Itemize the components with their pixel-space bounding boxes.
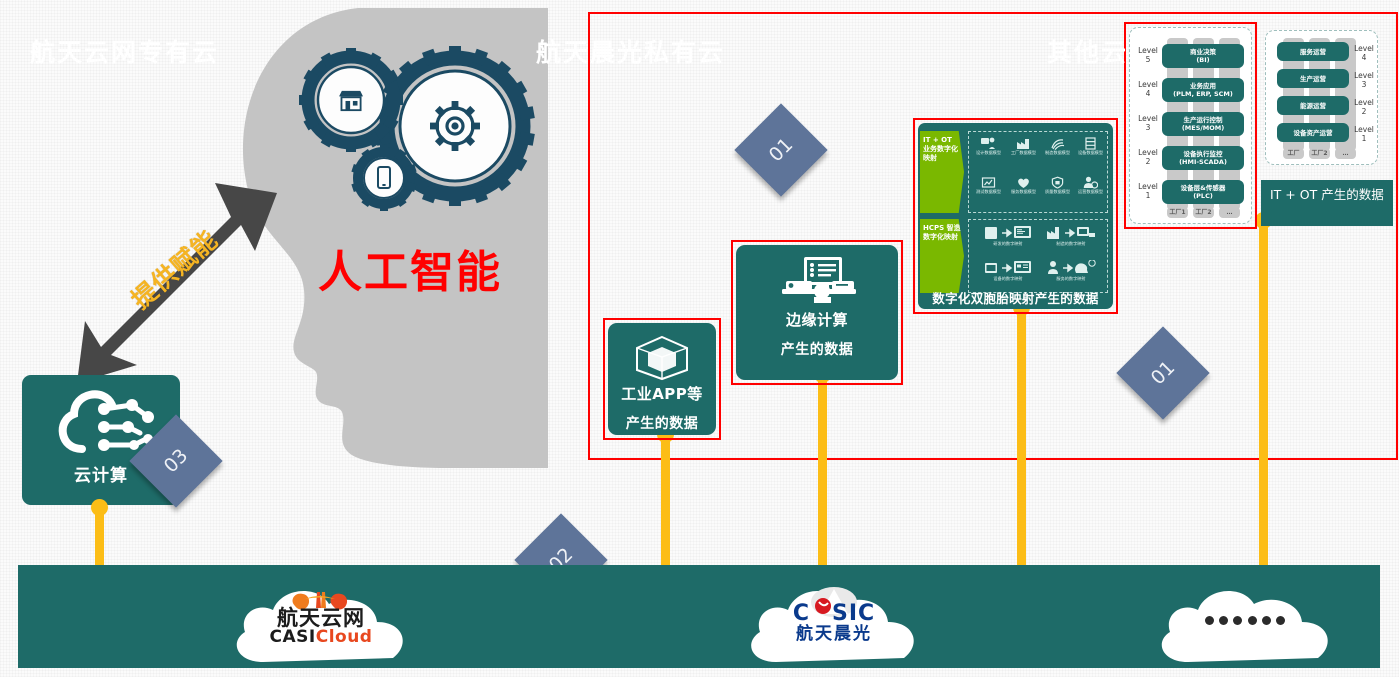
casicloud-logo-en2: Cloud xyxy=(316,627,373,647)
twin-model-1-label: 工厂数据模型 xyxy=(1007,151,1040,156)
casicloud-logo-cn: 航天云网 xyxy=(255,607,387,629)
twin-model-0: 设计数据模型 xyxy=(971,137,1006,156)
factory-icon xyxy=(1016,137,1031,150)
cloud-label-casicloud: 航天云网专有云 xyxy=(30,33,219,69)
twin-model-3-label: 设备数据模型 xyxy=(1074,151,1107,156)
twin-model-1: 工厂数据模型 xyxy=(1006,137,1041,156)
twin-model-4: 测试数据模型 xyxy=(971,176,1006,195)
casic-logo-en1: C xyxy=(793,601,810,626)
it-ot-caption: IT + OT 产生的数据 xyxy=(1261,180,1393,226)
ot-plant-2: … xyxy=(1335,148,1356,159)
twin-model-2-label: 制造数据模型 xyxy=(1041,151,1074,156)
ot-level-3-bar: 生产运营 xyxy=(1277,69,1349,88)
industrial-app-line1: 工业APP等 xyxy=(608,383,716,404)
ot-level-4-bar: 服务运营 xyxy=(1277,42,1349,61)
badge-03[interactable]: 03 xyxy=(143,428,209,494)
twin-mapping-0-label: 研发的数字映射 xyxy=(980,242,1035,247)
twin-models-grid: 设计数据模型 工厂数据模型 制造数据模型 设备数据模型 测试数据模型 服务数据模… xyxy=(968,131,1108,213)
ellipsis-dots-icon xyxy=(1205,613,1285,627)
twin-model-6: 质量数据模型 xyxy=(1040,176,1075,195)
ot-level-4-title: 服务运营 xyxy=(1300,48,1326,56)
badge-01-right[interactable]: 01 xyxy=(1130,340,1196,406)
twin-mapping-1: 制造的数字映射 xyxy=(1041,225,1101,247)
ot-plant-0: 工厂 xyxy=(1283,148,1304,159)
ot-level-4-tag: Level 4 xyxy=(1352,44,1376,62)
gears-graphic xyxy=(288,38,558,218)
twin-model-3: 设备数据模型 xyxy=(1073,137,1108,156)
casic-logo-en2: SIC xyxy=(832,601,875,626)
it-level-3-tag: Level 3 xyxy=(1136,114,1160,132)
casic-logo: CSIC 航天晨光 xyxy=(775,588,893,648)
casic-logo-en: CSIC xyxy=(775,602,893,626)
it-level-4-tag: Level 4 xyxy=(1136,80,1160,98)
edge-computing-text: 边缘计算 产生的数据 xyxy=(736,309,898,359)
it-plant-2: … xyxy=(1219,207,1240,218)
service-map-icon xyxy=(1046,260,1096,276)
ot-level-2-tag: Level 2 xyxy=(1352,98,1376,116)
ot-level-1-bar: 设备资产运营 xyxy=(1277,123,1349,142)
it-pyramid-panel[interactable]: Level 5 商业决策 (BI) Level 4 业务应用 (PLM, ERP… xyxy=(1129,27,1252,224)
ot-level-2-title: 能源运营 xyxy=(1300,102,1326,110)
manufacture-icon xyxy=(1050,137,1065,150)
it-level-5-bar: 商业决策 (BI) xyxy=(1162,44,1244,68)
it-level-2-tag: Level 2 xyxy=(1136,148,1160,166)
it-level-3-bar: 生产运行控制 (MES/MOM) xyxy=(1162,112,1244,136)
it-level-2-sub: (HMI-SCADA) xyxy=(1179,158,1227,166)
twin-tab-itot: IT + OT 业务数字化映射 xyxy=(920,131,964,213)
twin-mapping-2-label: 设备的数字映射 xyxy=(980,277,1035,282)
twin-model-6-label: 质量数据模型 xyxy=(1041,190,1074,195)
it-level-3-sub: (MES/MOM) xyxy=(1182,124,1224,132)
design-icon xyxy=(981,137,996,150)
edge-computing-line2: 产生的数据 xyxy=(736,339,898,359)
casicloud-logo-en1: CASI xyxy=(270,627,316,647)
page-title: 人工智能 xyxy=(270,236,550,300)
it-level-1-bar: 设备层&传感器 (PLC) xyxy=(1162,180,1244,204)
twin-model-5: 服务数据模型 xyxy=(1006,176,1041,195)
connector-edge-to-bar xyxy=(818,372,827,575)
digital-twin-panel[interactable]: IT + OT 业务数字化映射 HCPS 智造数字化映射 设计数据模型 工厂数据… xyxy=(918,123,1113,309)
casic-logo-cn: 航天晨光 xyxy=(775,624,893,644)
it-level-5-title: 商业决策 xyxy=(1190,48,1216,56)
twin-mapping-2: 设备的数字映射 xyxy=(979,260,1037,282)
twin-model-7: 运营数据模型 xyxy=(1073,176,1108,195)
cube-box-icon xyxy=(633,333,691,381)
test-chart-icon xyxy=(981,176,996,189)
badge-03-number: 03 xyxy=(129,414,222,507)
it-level-3-title: 生产运行控制 xyxy=(1184,116,1223,124)
it-level-5-tag: Level 5 xyxy=(1136,46,1160,64)
equipment-icon xyxy=(1083,137,1098,150)
industrial-app-text: 工业APP等 产生的数据 xyxy=(608,383,716,433)
edge-server-monitor-icon xyxy=(776,255,858,307)
twin-mappings-grid: 研发的数字映射 制造的数字映射 设备的数字映射 xyxy=(968,219,1108,293)
casicloud-logo: 航天云网 CASICloud xyxy=(255,590,387,646)
connector-twin-to-bar xyxy=(1017,305,1026,575)
ot-level-3-tag: Level 3 xyxy=(1352,71,1376,89)
quality-shield-icon xyxy=(1050,176,1065,189)
operation-user-icon xyxy=(1083,176,1098,189)
badge-01-right-number: 01 xyxy=(1116,326,1209,419)
it-level-2-title: 设备执行监控 xyxy=(1184,150,1223,158)
ot-pyramid-panel[interactable]: 服务运营 Level 4 生产运营 Level 3 能源运营 Level 2 设… xyxy=(1265,30,1378,165)
it-level-4-sub: (PLM, ERP, SCM) xyxy=(1173,90,1233,98)
it-level-1-sub: (PLC) xyxy=(1193,192,1213,200)
twin-model-0-label: 设计数据模型 xyxy=(972,151,1005,156)
it-level-1-tag: Level 1 xyxy=(1136,182,1160,200)
it-plant-0: 工厂1 xyxy=(1167,207,1188,218)
cloud-label-other: 其他云 xyxy=(1047,33,1128,69)
device-map-icon xyxy=(984,260,1032,276)
twin-model-2: 制造数据模型 xyxy=(1040,137,1075,156)
twin-mapping-0: 研发的数字映射 xyxy=(979,225,1037,247)
it-plant-1: 工厂2 xyxy=(1193,207,1214,218)
industrial-app-card[interactable]: 工业APP等 产生的数据 xyxy=(608,323,716,435)
service-heart-icon xyxy=(1016,176,1031,189)
rnd-map-icon xyxy=(984,225,1032,241)
twin-tab-hcps: HCPS 智造数字化映射 xyxy=(920,219,964,293)
connector-itot-to-bar xyxy=(1259,218,1268,575)
twin-model-7-label: 运营数据模型 xyxy=(1074,190,1107,195)
manufacture-map-icon xyxy=(1046,225,1096,241)
ot-level-2-bar: 能源运营 xyxy=(1277,96,1349,115)
twin-model-5-label: 服务数据模型 xyxy=(1007,190,1040,195)
cloud-label-chenguang: 航天晨光私有云 xyxy=(536,33,725,69)
diagram-canvas: 人工智能 提供赋能 云计算 xyxy=(0,0,1399,677)
it-level-2-bar: 设备执行监控 (HMI-SCADA) xyxy=(1162,146,1244,170)
edge-computing-line1: 边缘计算 xyxy=(736,309,898,330)
badge-01-top-number: 01 xyxy=(734,103,827,196)
twin-mapping-3: 服务的数字映射 xyxy=(1041,260,1101,282)
twin-mapping-1-label: 制造的数字映射 xyxy=(1043,242,1100,247)
it-level-5-sub: (BI) xyxy=(1196,56,1209,64)
ot-level-1-tag: Level 1 xyxy=(1352,125,1376,143)
it-level-4-bar: 业务应用 (PLM, ERP, SCM) xyxy=(1162,78,1244,102)
twin-mapping-3-label: 服务的数字映射 xyxy=(1043,277,1100,282)
ot-level-3-title: 生产运营 xyxy=(1300,75,1326,83)
ot-plant-1: 工厂2 xyxy=(1309,148,1330,159)
industrial-app-line2: 产生的数据 xyxy=(608,413,716,433)
badge-01-top[interactable]: 01 xyxy=(748,117,814,183)
ot-level-1-title: 设备资产运营 xyxy=(1294,129,1333,137)
twin-model-4-label: 测试数据模型 xyxy=(972,190,1005,195)
it-level-1-title: 设备层&传感器 xyxy=(1181,184,1226,192)
it-level-4-title: 业务应用 xyxy=(1190,82,1216,90)
edge-computing-card[interactable]: 边缘计算 产生的数据 xyxy=(736,245,898,380)
digital-twin-caption: 数字化双胞胎映射产生的数据 xyxy=(918,288,1113,307)
connector-app-to-bar xyxy=(661,432,670,575)
